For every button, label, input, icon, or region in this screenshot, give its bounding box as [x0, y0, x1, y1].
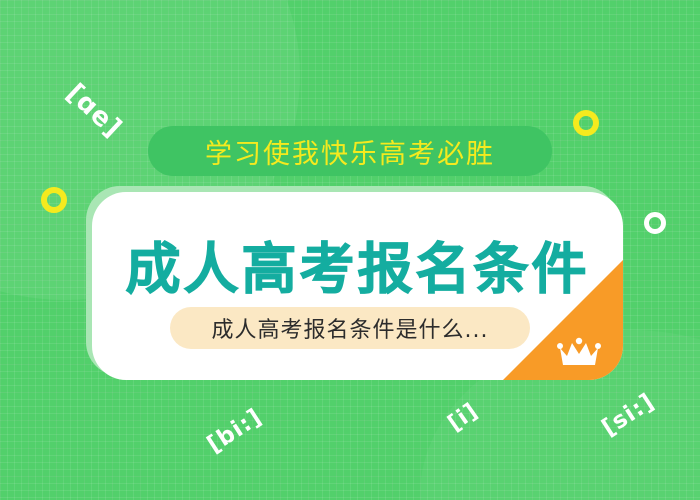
ring-white-right [644, 212, 666, 234]
main-card: 成人高考报名条件 [92, 192, 623, 380]
top-banner-pill: 学习使我快乐高考必胜 [148, 126, 552, 176]
ring-yellow-left [41, 187, 67, 213]
top-banner-text: 学习使我快乐高考必胜 [205, 132, 495, 171]
page-title: 成人高考报名条件 [92, 224, 623, 304]
crown-icon [557, 336, 601, 368]
ring-yellow-right [573, 110, 599, 136]
poster-canvas: [ɑe] [bi:] [i] [si:] 学习使我快乐高考必胜 成人高考报名条件… [0, 0, 700, 500]
subtitle-pill: 成人高考报名条件是什么... [170, 307, 530, 349]
subtitle-text: 成人高考报名条件是什么... [212, 312, 489, 344]
